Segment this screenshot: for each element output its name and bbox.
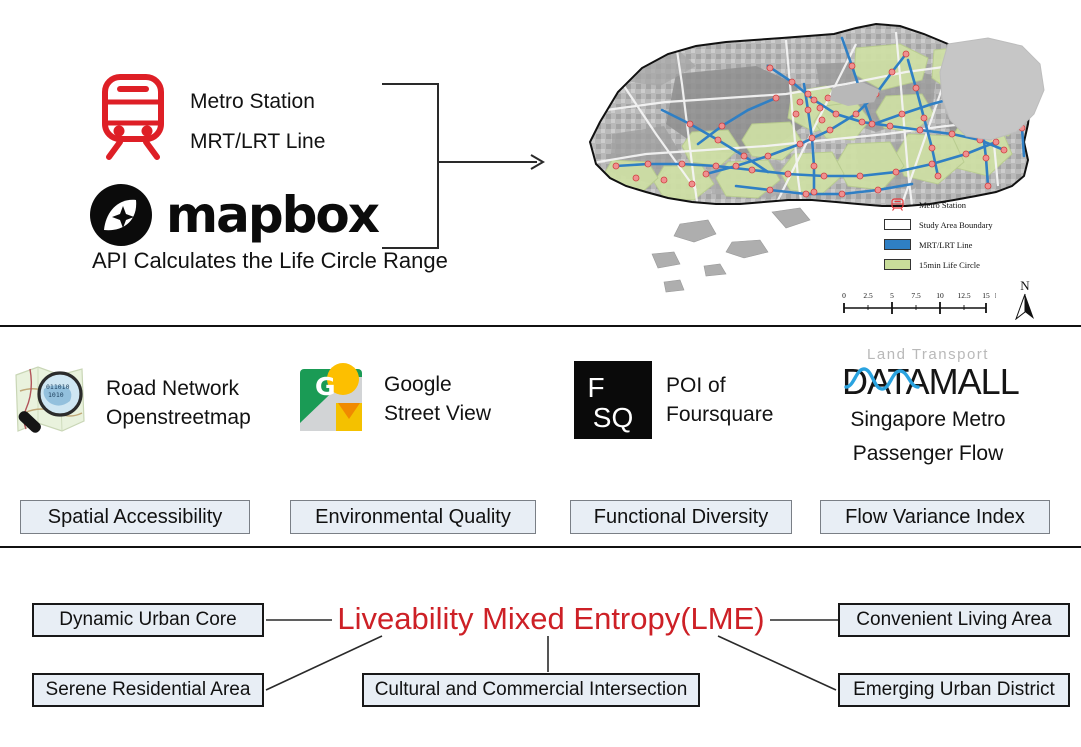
source-line-1: POI of [666,371,773,400]
arrow-right-icon [437,150,545,174]
study-area-swatch [884,219,911,230]
source-google-street-view: G Google Street View [296,361,491,437]
source-label: POI of Foursquare [666,371,773,429]
source-line-2: Foursquare [666,400,773,429]
svg-text:G: G [315,372,336,401]
legend-item: MRT/LRT Line [884,236,1004,253]
metro-station-legend-icon [884,198,911,211]
legend-item: Study Area Boundary [884,216,1004,233]
foursquare-fsq-icon: F SQ [574,361,652,439]
indicator-environmental-quality[interactable]: Environmental Quality [290,500,536,534]
legend-label: 15min Life Circle [919,260,980,270]
metro-station-label: Metro Station [190,90,315,114]
datamall-line-1: Singapore Metro [850,405,1005,435]
cluster-convenient-living-area[interactable]: Convenient Living Area [838,603,1070,637]
datamall-main-text: DATAMALL [842,361,1019,401]
api-life-circle-label: API Calculates the Life Circle Range [92,248,448,274]
svg-text:0: 0 [842,291,846,300]
cluster-emerging-urban-district[interactable]: Emerging Urban District [838,673,1070,707]
cluster-serene-residential-area[interactable]: Serene Residential Area [32,673,264,707]
svg-text:5: 5 [890,291,894,300]
source-line-2: Openstreetmap [106,403,251,432]
svg-text:N: N [1020,278,1030,293]
legend-item: Metro Station [884,196,1004,213]
cluster-cultural-commercial-intersection[interactable]: Cultural and Commercial Intersection [362,673,700,707]
indicator-spatial-accessibility[interactable]: Spatial Accessibility [20,500,250,534]
mrt-line-swatch [884,239,911,250]
svg-text:F: F [587,372,604,403]
legend-item: 15min Life Circle [884,256,1004,273]
svg-text:7.5: 7.5 [911,291,921,300]
legend-label: Metro Station [919,200,966,210]
svg-text:SQ: SQ [593,402,633,433]
data-sources-section: 0110101010 Road Network Openstreetmap G … [0,327,1081,545]
map-scalebar: 02.55 7.51012.5 15 km [836,290,996,316]
svg-text:15: 15 [982,291,990,300]
cluster-connector-lines [0,548,1081,747]
source-label: Road Network Openstreetmap [106,374,251,432]
openstreetmap-magnifier-icon: 0110101010 [8,361,96,445]
svg-text:011010: 011010 [46,383,70,391]
svg-text:1010: 1010 [48,391,64,399]
legend-label: MRT/LRT Line [919,240,972,250]
source-line-2: Street View [384,399,491,428]
svg-text:2.5: 2.5 [863,291,873,300]
source-line-1: Google [384,370,491,399]
map-legend: Metro Station Study Area Boundary MRT/LR… [884,196,1004,276]
google-street-view-icon: G [296,361,372,437]
mapbox-wordmark: mapbox [166,190,378,240]
mapbox-logo-icon [90,184,152,246]
source-openstreetmap: 0110101010 Road Network Openstreetmap [8,361,251,445]
life-circle-swatch [884,259,911,270]
source-lta-datamall: Land Transport DATAMALL Singapore Metro … [832,345,1024,469]
north-arrow-icon: N [1008,278,1042,320]
indicator-functional-diversity[interactable]: Functional Diversity [570,500,792,534]
datamall-line-2: Passenger Flow [853,439,1004,469]
cluster-dynamic-urban-core[interactable]: Dynamic Urban Core [32,603,264,637]
svg-text:km: km [995,291,996,300]
lme-title: Liveability Mixed Entropy(LME) [332,601,770,637]
legend-label: Study Area Boundary [919,220,993,230]
svg-text:12.5: 12.5 [957,291,970,300]
indicator-flow-variance-index[interactable]: Flow Variance Index [820,500,1050,534]
lme-clusters-section: Liveability Mixed Entropy(LME) Dynamic U… [0,548,1081,747]
train-icon [96,74,170,160]
mapbox-logo: mapbox [90,184,378,246]
svg-text:10: 10 [936,291,944,300]
source-label: Google Street View [384,370,491,428]
source-foursquare: F SQ POI of Foursquare [574,361,773,439]
lta-datamall-logo-icon: Land Transport DATAMALL [832,345,1024,401]
source-line-1: Road Network [106,374,251,403]
data-acquisition-section: Metro Station MRT/LRT Line mapbox API Ca… [0,0,1081,325]
mrt-lrt-line-label: MRT/LRT Line [190,130,325,154]
